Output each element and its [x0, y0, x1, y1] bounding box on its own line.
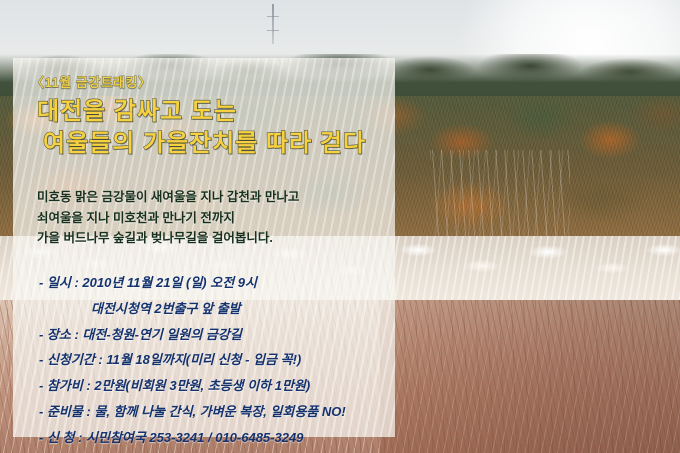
event-kicker: 〈11월 금강트래킹〉 — [31, 72, 379, 91]
event-details-list: - 일시 : 2010년 11월 21일 (일) 오전 9시 대전시청역 2번출… — [39, 270, 379, 453]
detail-item-application-period: - 신청기간 : 11월 18일까지(미리 신청 - 입금 꼭!) — [39, 347, 379, 373]
detail-item-fee: - 참가비 : 2만원(비회원 3만원, 초등생 이하 1만원) — [39, 373, 379, 399]
detail-item-what-to-bring: - 준비물 : 물, 함께 나눌 간식, 가벼운 복장, 일회용품 NO! — [39, 399, 379, 425]
intro-line: 가을 버드나무 숲길과 벚나무길을 걸어봅니다. — [37, 228, 379, 248]
intro-line: 미호동 맑은 금강물이 새여울을 지나 갑천과 만나고 — [37, 187, 379, 207]
intro-line: 쇠여울을 지나 미호천과 만나기 전까지 — [37, 208, 379, 228]
poster-title-line-1: 대전을 감싸고 도는 — [37, 97, 379, 127]
reed-field-shadow — [380, 300, 680, 453]
tracking-event-poster: 가을 금강변 억새밭과 단풍든 산 풍경 〈11월 금강트래킹〉 대전을 감싸고… — [0, 0, 680, 453]
intro-paragraph: 미호동 맑은 금강물이 새여울을 지나 갑천과 만나고 쇠여울을 지나 미호천과… — [37, 187, 379, 248]
detail-item-meeting-point: 대전시청역 2번출구 앞 출발 — [39, 296, 379, 322]
poster-title-line-2: 여울들의 가을잔치를 따라 걷다 — [43, 129, 379, 159]
bare-tree-cluster — [430, 150, 570, 250]
transmission-tower — [272, 4, 274, 44]
info-panel: 〈11월 금강트래킹〉 대전을 감싸고 도는 여울들의 가을잔치를 따라 걷다 … — [13, 58, 395, 437]
detail-item-date: - 일시 : 2010년 11월 21일 (일) 오전 9시 — [39, 270, 379, 296]
detail-item-contact: - 신 청 : 시민참여국 253-3241 / 010-6485-3249 — [39, 425, 379, 451]
panel-content: 〈11월 금강트래킹〉 대전을 감싸고 도는 여울들의 가을잔치를 따라 걷다 … — [29, 72, 379, 453]
detail-item-place: - 장소 : 대전-청원-연기 일원의 금강길 — [39, 322, 379, 348]
